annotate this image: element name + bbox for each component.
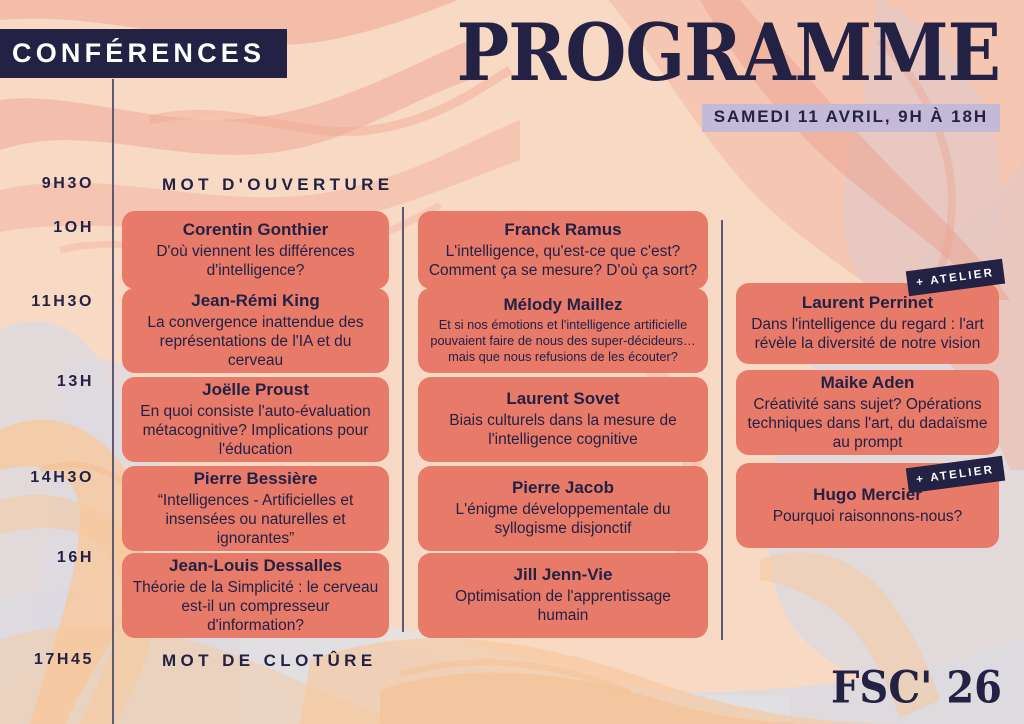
divider-times-column xyxy=(112,79,114,724)
conferences-badge-label: CONFÉRENCES xyxy=(12,40,265,67)
talk-speaker: Jill Jenn-Vie xyxy=(514,565,613,586)
talk-card-jean-louis-dessalles[interactable]: Jean-Louis DessallesThéorie de la Simpli… xyxy=(122,553,389,638)
talk-title: Dans l'intelligence du regard : l'art ré… xyxy=(746,315,989,353)
talk-title: L'énigme développementale du syllogisme … xyxy=(428,500,698,538)
talk-speaker: Mélody Maillez xyxy=(503,295,622,316)
atelier-badge-label: + ATELIER xyxy=(916,267,995,289)
talk-title: Théorie de la Simplicité : le cerveau es… xyxy=(132,578,379,636)
talk-title: Créativité sans sujet? Opérations techni… xyxy=(746,395,989,453)
talk-title: La convergence inattendue des représenta… xyxy=(132,313,379,371)
talk-title: “Intelligences - Artificielles et insens… xyxy=(132,491,379,549)
event-logo: FSC' 26 xyxy=(831,666,1002,710)
time-label-13h: 13H xyxy=(57,374,94,390)
talk-card-laurent-sovet[interactable]: Laurent SovetBiais culturels dans la mes… xyxy=(418,377,708,462)
time-label-17h45: 17H45 xyxy=(34,652,94,668)
talk-speaker: Joëlle Proust xyxy=(202,380,309,401)
time-label-16h: 16H xyxy=(57,550,94,566)
talk-speaker: Jean-Louis Dessalles xyxy=(169,556,342,577)
time-label-11h3o: 11H3O xyxy=(31,294,94,310)
conferences-badge: CONFÉRENCES xyxy=(0,29,287,78)
talk-title: En quoi consiste l'auto-évaluation métac… xyxy=(132,402,379,460)
talk-speaker: Pierre Bessière xyxy=(194,469,318,490)
talk-title: D'où viennent les différences d'intellig… xyxy=(132,242,379,280)
time-label-14h3o: 14H3O xyxy=(30,470,94,486)
talk-speaker: Franck Ramus xyxy=(504,220,621,241)
talk-card-jean-remi-king[interactable]: Jean-Rémi KingLa convergence inattendue … xyxy=(122,288,389,373)
atelier-badge-label: + ATELIER xyxy=(916,464,995,486)
page-title: PROGRAMME xyxy=(457,14,1000,92)
talk-card-corentin-gonthier[interactable]: Corentin GonthierD'où viennent les diffé… xyxy=(122,211,389,289)
talk-card-joelle-proust[interactable]: Joëlle ProustEn quoi consiste l'auto-éva… xyxy=(122,377,389,462)
talk-card-melody-maillez[interactable]: Mélody MaillezEt si nos émotions et l'in… xyxy=(418,288,708,373)
talk-card-maike-aden[interactable]: Maike AdenCréativité sans sujet? Opérati… xyxy=(736,370,999,455)
section-heading-ouverture: MOT D'OUVERTURE xyxy=(162,176,394,193)
divider-column-1-2 xyxy=(402,207,404,632)
talk-speaker: Laurent Perrinet xyxy=(802,293,933,314)
talk-speaker: Pierre Jacob xyxy=(512,478,614,499)
date-band-label: SAMEDI 11 AVRIL, 9H À 18H xyxy=(714,107,988,126)
talk-card-laurent-perrinet[interactable]: Laurent PerrinetDans l'intelligence du r… xyxy=(736,283,999,364)
divider-column-2-3 xyxy=(721,220,723,640)
talk-card-jill-jenn-vie[interactable]: Jill Jenn-VieOptimisation de l'apprentis… xyxy=(418,553,708,638)
programme-poster: CONFÉRENCES PROGRAMME SAMEDI 11 AVRIL, 9… xyxy=(0,0,1024,724)
talk-card-pierre-jacob[interactable]: Pierre JacobL'énigme développementale du… xyxy=(418,466,708,551)
talk-speaker: Maike Aden xyxy=(821,373,915,394)
talk-title: Optimisation de l'apprentissage humain xyxy=(428,587,698,625)
talk-speaker: Laurent Sovet xyxy=(506,389,619,410)
talk-title: L'intelligence, qu'est-ce que c'est? Com… xyxy=(428,242,698,280)
date-band: SAMEDI 11 AVRIL, 9H À 18H xyxy=(702,104,1000,132)
talk-title: Pourquoi raisonnons-nous? xyxy=(773,507,963,526)
talk-speaker: Jean-Rémi King xyxy=(191,291,319,312)
talk-speaker: Hugo Mercier xyxy=(813,485,922,506)
talk-card-pierre-bessiere[interactable]: Pierre Bessière“Intelligences - Artifici… xyxy=(122,466,389,551)
talk-title: Biais culturels dans la mesure de l'inte… xyxy=(428,411,698,449)
talk-card-franck-ramus[interactable]: Franck RamusL'intelligence, qu'est-ce qu… xyxy=(418,211,708,289)
time-label-9h3o: 9H3O xyxy=(42,176,94,192)
section-heading-cloture: MOT DE CLOTÛRE xyxy=(162,652,377,669)
talk-title: Et si nos émotions et l'intelligence art… xyxy=(428,317,698,365)
time-label-1oh: 1OH xyxy=(53,220,94,236)
talk-speaker: Corentin Gonthier xyxy=(183,220,328,241)
